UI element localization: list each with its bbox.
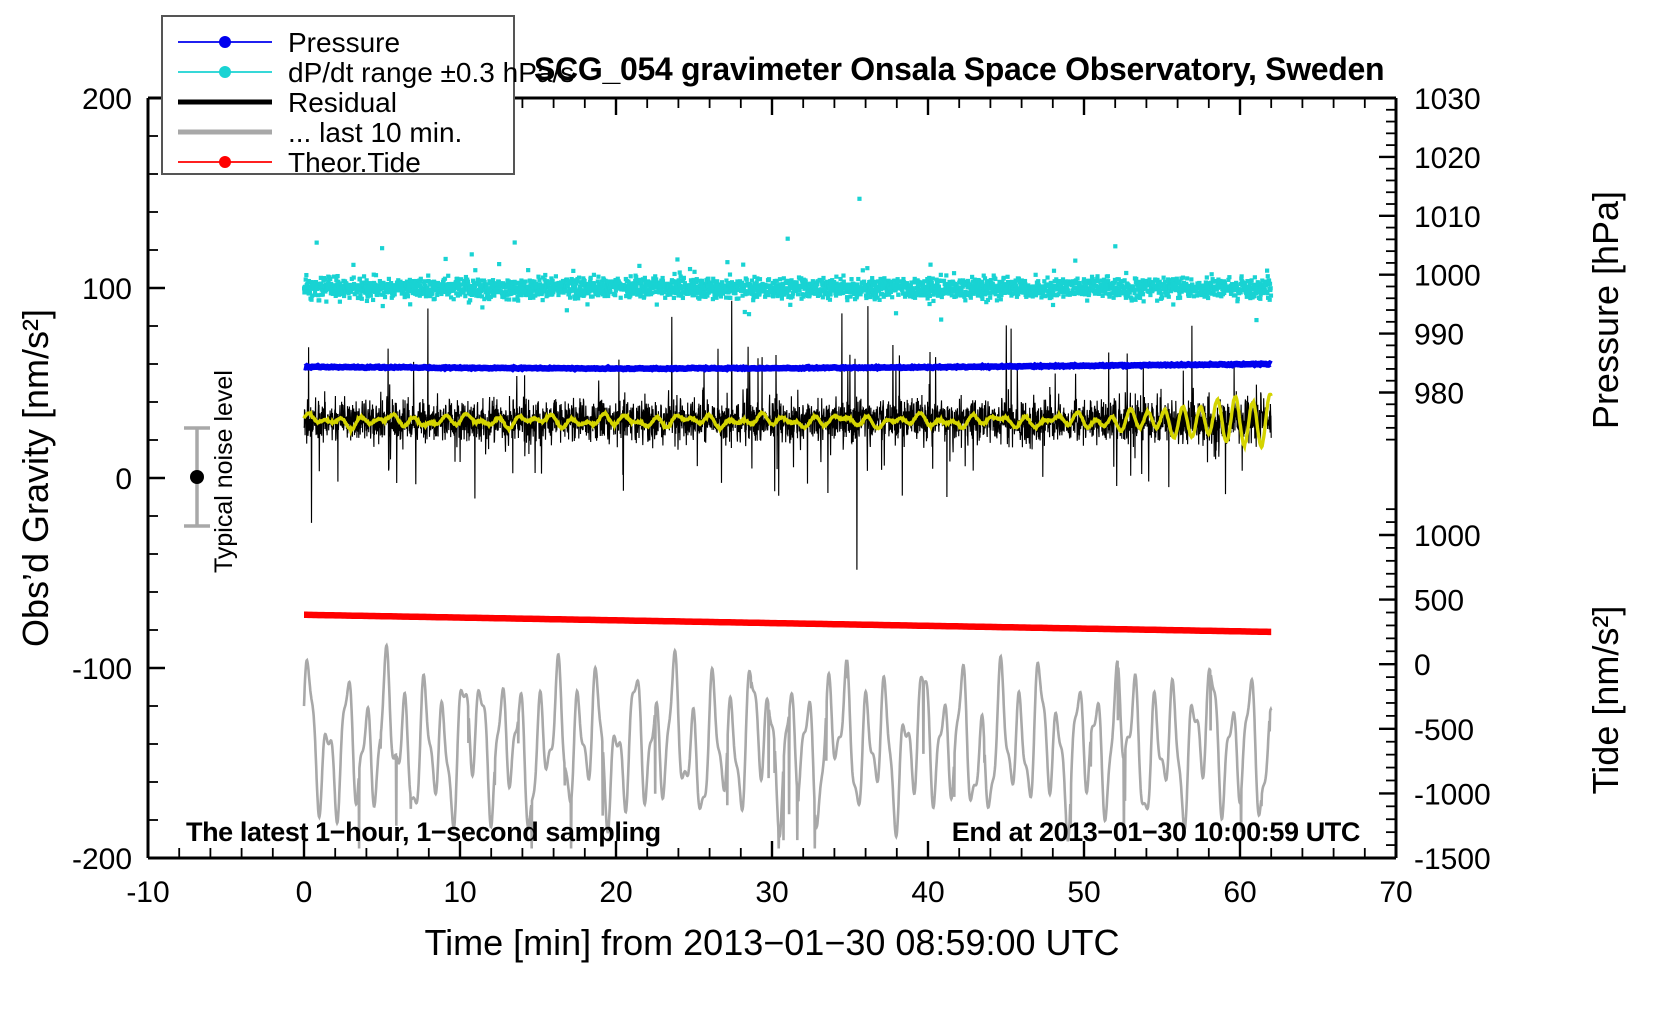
scatter-point xyxy=(516,298,520,302)
scatter-point xyxy=(497,262,501,266)
legend-item-label: ... last 10 min. xyxy=(288,117,462,148)
scatter-point xyxy=(741,263,745,267)
scatter-point xyxy=(927,302,931,306)
scatter-point xyxy=(1085,298,1089,302)
scatter-point xyxy=(778,277,782,281)
scatter-point xyxy=(1002,276,1006,280)
pressure-trace xyxy=(304,364,1271,370)
scatter-point xyxy=(745,278,749,282)
pressure-tick-label: 1000 xyxy=(1414,260,1481,293)
x-tick-label: 60 xyxy=(1223,876,1256,909)
scatter-point xyxy=(358,277,362,281)
scatter-point xyxy=(870,276,874,280)
x-tick-label: 30 xyxy=(755,876,788,909)
scatter-point xyxy=(387,277,391,281)
legend-item-label: Residual xyxy=(288,87,397,118)
scatter-point xyxy=(315,241,319,245)
scatter-point xyxy=(470,252,474,256)
scatter-point xyxy=(706,277,710,281)
scatter-point xyxy=(890,295,894,299)
scatter-point xyxy=(1227,275,1231,279)
scatter-point xyxy=(1148,293,1152,297)
scatter-point xyxy=(507,297,511,301)
scatter-point xyxy=(1162,276,1166,280)
scatter-point xyxy=(1049,295,1053,299)
scatter-point xyxy=(736,296,740,300)
scatter-point xyxy=(328,277,332,281)
scatter-point xyxy=(1036,279,1040,283)
scatter-point xyxy=(995,298,999,302)
scatter-point xyxy=(1205,275,1209,279)
tide-tick-label: -1500 xyxy=(1414,843,1491,876)
scatter-point xyxy=(309,298,313,302)
scatter-point xyxy=(1141,292,1145,296)
scatter-point xyxy=(672,296,676,300)
scatter-point xyxy=(743,310,747,314)
scatter-point xyxy=(468,298,472,302)
scatter-point xyxy=(342,294,346,298)
scatter-point xyxy=(1254,318,1258,322)
scatter-point xyxy=(938,279,942,283)
legend-swatch-dot xyxy=(219,36,231,48)
scatter-point xyxy=(980,297,984,301)
x-tick-label: -10 xyxy=(126,876,169,909)
scatter-point xyxy=(939,317,943,321)
scatter-point xyxy=(629,274,633,278)
scatter-point xyxy=(1051,303,1055,307)
scatter-point xyxy=(834,275,838,279)
chart-legend[interactable]: PressuredP/dt range ±0.3 hPa/sResidual..… xyxy=(162,16,574,178)
pressure-axis-title: Pressure [hPa] xyxy=(1585,191,1626,429)
scatter-point xyxy=(725,260,729,264)
scatter-point xyxy=(592,273,596,277)
scatter-point xyxy=(304,273,308,277)
scatter-point xyxy=(480,305,484,309)
scatter-point xyxy=(944,273,948,277)
scatter-point xyxy=(1266,274,1270,278)
left-tick-label: 200 xyxy=(82,83,132,116)
scatter-point xyxy=(877,298,881,302)
scatter-point xyxy=(845,298,849,302)
scatter-point xyxy=(931,276,935,280)
scatter-point xyxy=(1210,272,1214,276)
scatter-point xyxy=(637,264,641,268)
scatter-point xyxy=(1042,279,1046,283)
scatter-point xyxy=(317,298,321,302)
scatter-point xyxy=(963,298,967,302)
scatter-point xyxy=(619,296,623,300)
scatter-point xyxy=(1269,293,1273,297)
end-time-note: End at 2013−01−30 10:00:59 UTC xyxy=(952,817,1360,847)
legend-item-label: dP/dt range ±0.3 hPa/s xyxy=(288,57,574,88)
scatter-point xyxy=(1206,296,1210,300)
scatter-point xyxy=(969,296,973,300)
scatter-point xyxy=(865,266,869,270)
scatter-point xyxy=(688,267,692,271)
scatter-point xyxy=(1095,274,1099,278)
y-axis-title: Obs’d Gravity [nm/s²] xyxy=(15,309,56,647)
scatter-point xyxy=(828,298,832,302)
left-tick-label: -200 xyxy=(72,843,132,876)
tide-tick-label: 500 xyxy=(1414,585,1464,618)
scatter-point xyxy=(1155,299,1159,303)
scatter-point xyxy=(1061,295,1065,299)
scatter-point xyxy=(856,277,860,281)
scatter-point xyxy=(747,312,751,316)
scatter-point xyxy=(1052,269,1056,273)
left-tick-label: 100 xyxy=(82,273,132,306)
scatter-point xyxy=(692,270,696,274)
scatter-point xyxy=(596,275,600,279)
scatter-point xyxy=(681,296,685,300)
chart-canvas: 2001000-100-200 -10010203040506070 10301… xyxy=(0,0,1660,1020)
scatter-point xyxy=(821,276,825,280)
scatter-point xyxy=(931,299,935,303)
scatter-point xyxy=(993,277,997,281)
scatter-point xyxy=(406,294,410,298)
scatter-point xyxy=(1167,295,1171,299)
scatter-point xyxy=(358,293,362,297)
scatter-point xyxy=(383,295,387,299)
x-axis-title: Time [min] from 2013−01−30 08:59:00 UTC xyxy=(424,922,1119,963)
tide-axis-title: Tide [nm/s²] xyxy=(1585,606,1626,795)
scatter-point xyxy=(1005,275,1009,279)
tide-tick-label: -1000 xyxy=(1414,778,1491,811)
scatter-point-outlier xyxy=(786,237,790,241)
left-tick-label: -100 xyxy=(72,653,132,686)
scatter-point xyxy=(999,297,1003,301)
scatter-point xyxy=(444,257,448,261)
scatter-point xyxy=(939,273,943,277)
scatter-point xyxy=(351,263,355,267)
scatter-point xyxy=(841,273,845,277)
scatter-point xyxy=(1034,273,1038,277)
scatter-point xyxy=(1142,299,1146,303)
legend-item-label: Pressure xyxy=(288,27,400,58)
scatter-point xyxy=(864,296,868,300)
legend-swatch-dot xyxy=(219,156,231,168)
pressure-tick-label: 990 xyxy=(1414,319,1464,352)
scatter-point xyxy=(1045,275,1049,279)
scatter-point xyxy=(894,311,898,315)
pressure-tick-label: 1030 xyxy=(1414,83,1481,116)
scatter-point-outlier xyxy=(380,246,384,250)
scatter-point xyxy=(1185,276,1189,280)
scatter-point xyxy=(565,308,569,312)
scatter-point-outlier xyxy=(513,240,517,244)
scatter-point xyxy=(952,271,956,275)
gravimeter-plot: 2001000-100-200 -10010203040506070 10301… xyxy=(0,0,1660,1020)
scatter-point xyxy=(758,277,762,281)
scatter-point xyxy=(523,279,527,283)
noise-center-dot xyxy=(190,470,204,484)
scatter-point xyxy=(1124,271,1128,275)
tide-tick-label: -500 xyxy=(1414,714,1474,747)
scatter-point xyxy=(1075,277,1079,281)
scatter-point xyxy=(419,277,423,281)
legend-swatch-dot xyxy=(219,66,231,78)
scatter-point xyxy=(374,273,378,277)
scatter-point xyxy=(767,277,771,281)
scatter-point xyxy=(788,303,792,307)
legend-item-label: Theor.Tide xyxy=(288,147,421,178)
scatter-point xyxy=(780,296,784,300)
scatter-point xyxy=(682,276,686,280)
x-tick-label: 0 xyxy=(296,876,313,909)
scatter-point xyxy=(577,276,581,280)
scatter-point xyxy=(1265,269,1269,273)
scatter-point xyxy=(338,300,342,304)
pressure-tick-label: 1010 xyxy=(1414,201,1481,234)
scatter-point xyxy=(1253,275,1257,279)
page-title: SCG_054 gravimeter Onsala Space Observat… xyxy=(534,51,1384,87)
x-tick-label: 40 xyxy=(911,876,944,909)
scatter-point xyxy=(1268,282,1272,286)
scatter-point xyxy=(1236,297,1240,301)
left-tick-label: 0 xyxy=(115,463,132,496)
scatter-point xyxy=(360,297,364,301)
scatter-point xyxy=(568,296,572,300)
scatter-point xyxy=(433,297,437,301)
noise-level-label: Typical noise level xyxy=(210,370,238,573)
scatter-point xyxy=(324,300,328,304)
scatter-point xyxy=(423,279,427,283)
x-tick-label: 20 xyxy=(599,876,632,909)
scatter-point xyxy=(828,292,832,296)
pressure-tick-label: 980 xyxy=(1414,378,1464,411)
scatter-point xyxy=(928,294,932,298)
tide-tick-label: 1000 xyxy=(1414,520,1481,553)
scatter-point xyxy=(371,298,375,302)
series-pressure xyxy=(304,364,1271,370)
scatter-point xyxy=(473,268,477,272)
scatter-point xyxy=(1258,297,1262,301)
scatter-point xyxy=(365,299,369,303)
scatter-point xyxy=(1160,296,1164,300)
scatter-point xyxy=(1171,302,1175,306)
scatter-point xyxy=(352,275,356,279)
scatter-point xyxy=(928,263,932,267)
scatter-point xyxy=(446,274,450,278)
scatter-point xyxy=(554,274,558,278)
x-tick-label: 10 xyxy=(443,876,476,909)
scatter-point xyxy=(526,268,530,272)
pressure-tick-label: 1020 xyxy=(1414,142,1481,175)
scatter-point-outlier xyxy=(857,197,861,201)
scatter-point xyxy=(675,257,679,261)
scatter-point xyxy=(408,302,412,306)
scatter-point xyxy=(861,268,865,272)
scatter-point xyxy=(613,293,617,297)
scatter-point xyxy=(988,296,992,300)
scatter-point xyxy=(347,296,351,300)
scatter-point xyxy=(571,269,575,273)
scatter-point xyxy=(1106,274,1110,278)
scatter-point xyxy=(541,298,545,302)
scatter-point xyxy=(1269,286,1273,290)
scatter-point xyxy=(728,272,732,276)
sampling-note: The latest 1−hour, 1−second sampling xyxy=(186,817,661,847)
scatter-point xyxy=(543,273,547,277)
scatter-point xyxy=(1240,274,1244,278)
scatter-point xyxy=(336,274,340,278)
scatter-point xyxy=(1178,296,1182,300)
scatter-point xyxy=(1181,276,1185,280)
scatter-point xyxy=(426,274,430,278)
x-tick-label: 50 xyxy=(1067,876,1100,909)
scatter-point xyxy=(655,302,659,306)
scatter-point xyxy=(672,272,676,276)
scatter-point-outlier xyxy=(1113,244,1117,248)
tide-tick-label: 0 xyxy=(1414,649,1431,682)
scatter-point xyxy=(678,270,682,274)
scatter-point xyxy=(585,302,589,306)
scatter-point xyxy=(1268,298,1272,302)
x-tick-label: 70 xyxy=(1379,876,1412,909)
scatter-point xyxy=(796,292,800,296)
scatter-point xyxy=(369,294,373,298)
scatter-point xyxy=(1189,277,1193,281)
scatter-point xyxy=(452,297,456,301)
scatter-point xyxy=(849,277,853,281)
scatter-point xyxy=(1073,259,1077,263)
scatter-point xyxy=(897,293,901,297)
scatter-point xyxy=(381,304,385,308)
scatter-point xyxy=(362,274,366,278)
scatter-point xyxy=(614,289,618,293)
scatter-point xyxy=(728,296,732,300)
scatter-point xyxy=(393,292,397,296)
